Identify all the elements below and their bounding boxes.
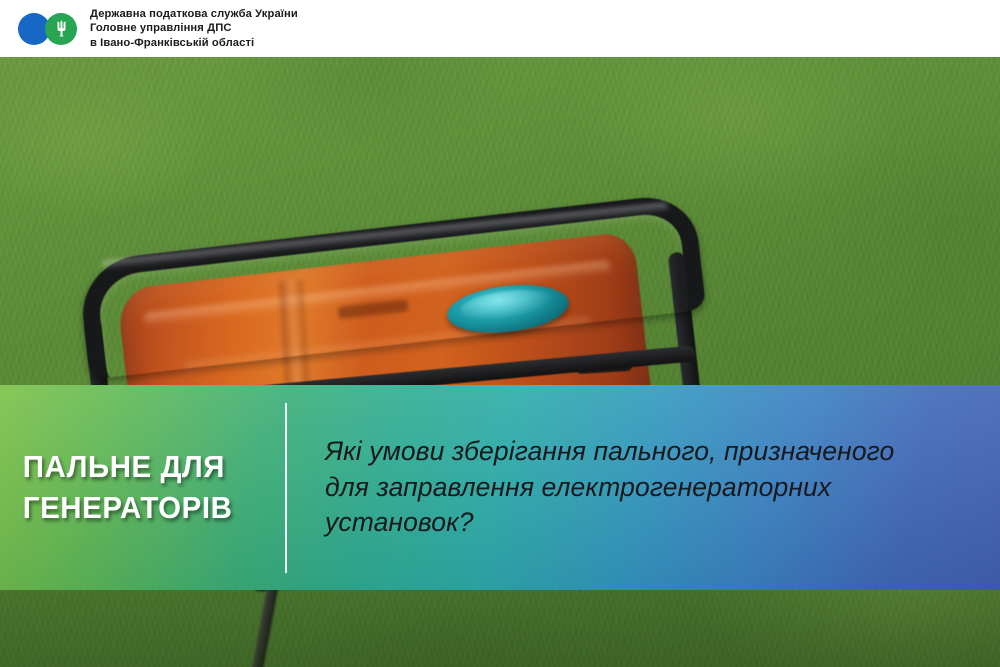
site-header: Державна податкова служба України Головн… [0, 0, 1000, 57]
banner-vertical-divider [285, 403, 287, 573]
logo-green-circle-icon [45, 13, 77, 45]
banner-content: ПАЛЬНЕ ДЛЯ ГЕНЕРАТОРІВ Які умови зберіга… [0, 385, 1000, 590]
org-name-block: Державна податкова служба України Головн… [90, 7, 298, 50]
promo-banner-page: Державна податкова служба України Головн… [0, 0, 1000, 667]
gradient-banner: ПАЛЬНЕ ДЛЯ ГЕНЕРАТОРІВ Які умови зберіга… [0, 385, 1000, 590]
trident-icon [53, 19, 70, 38]
banner-question-text: Які умови зберігання пального, призначен… [325, 434, 945, 541]
org-line-1: Державна податкова служба України [90, 7, 298, 21]
org-line-2: Головне управління ДПС [90, 21, 298, 35]
org-line-3: в Івано-Франківській області [90, 36, 298, 50]
dps-logo [18, 12, 80, 46]
banner-headline: ПАЛЬНЕ ДЛЯ ГЕНЕРАТОРІВ [0, 447, 249, 529]
